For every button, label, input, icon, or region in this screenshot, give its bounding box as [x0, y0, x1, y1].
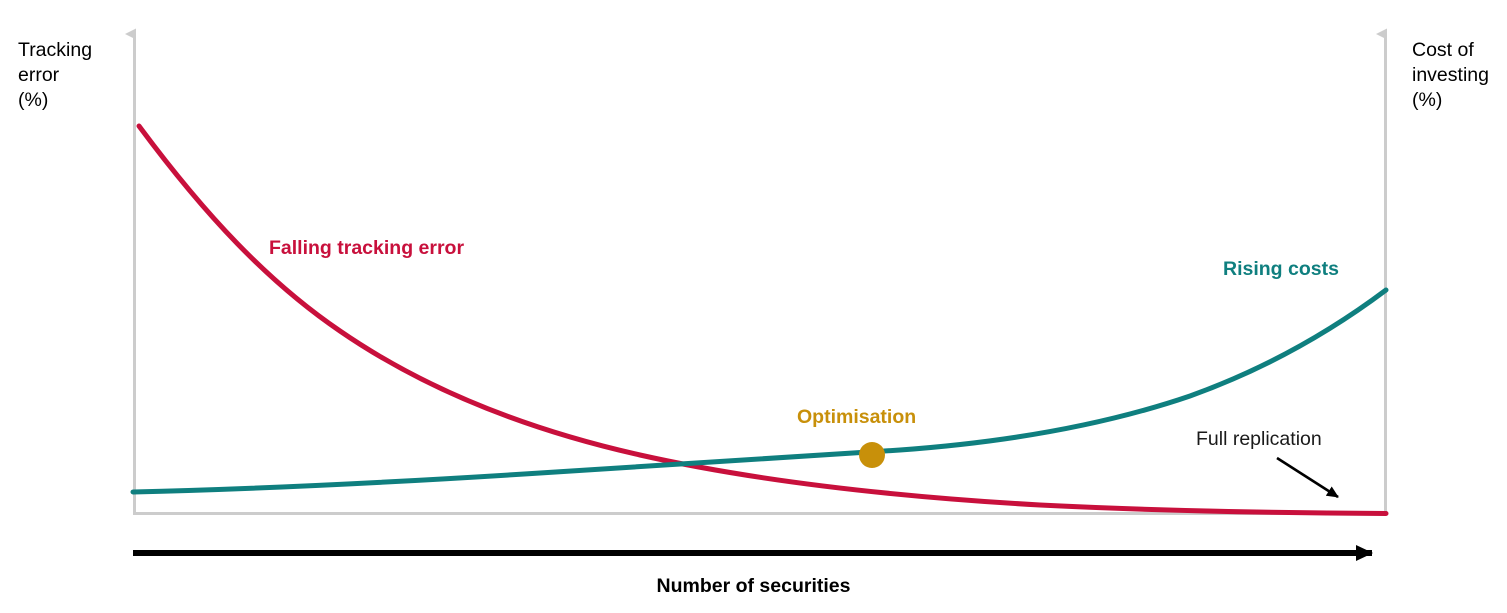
annotation-optimisation: Optimisation	[797, 406, 916, 429]
y-axis-left-title: Tracking error (%)	[18, 38, 123, 113]
series-label-falling-tracking-error: Falling tracking error	[269, 237, 464, 260]
y-axis-right-title: Cost of investing (%)	[1412, 38, 1507, 113]
x-axis-title: Number of securities	[0, 575, 1507, 598]
optimisation-marker	[859, 442, 885, 468]
annotation-full-replication: Full replication	[1196, 428, 1322, 451]
chart-figure: Tracking error (%) Cost of investing (%)…	[0, 0, 1507, 613]
full-replication-pointer-arrow	[1277, 458, 1338, 497]
chart-canvas	[0, 0, 1507, 613]
series-falling-tracking-error	[139, 126, 1386, 514]
series-label-rising-costs: Rising costs	[1223, 258, 1339, 281]
